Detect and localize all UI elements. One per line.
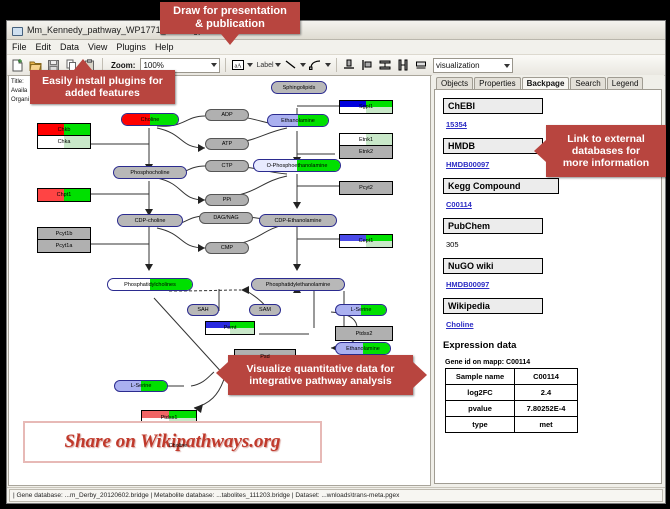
tab-search[interactable]: Search	[570, 77, 605, 89]
stack-icon[interactable]	[414, 58, 429, 73]
label-tool-dropdown[interactable]: Label	[256, 62, 280, 69]
node-phosphocholine[interactable]: Phosphocholine	[113, 166, 187, 179]
node-label: ATP	[222, 141, 232, 147]
menu-item-file[interactable]: File	[12, 42, 27, 52]
node-label: Phosphatidylethanolamine	[266, 282, 331, 288]
callout-visualize: Visualize quantitative data for integrat…	[228, 355, 413, 395]
table-row: Sample name C00114	[446, 369, 578, 385]
db-value-pubchem: 305	[446, 240, 459, 249]
zoom-value: 100%	[143, 61, 163, 70]
node-cdp-choline[interactable]: CDP-choline	[117, 214, 183, 227]
node-label: Choline	[141, 117, 160, 123]
arc-tool-icon[interactable]	[309, 58, 324, 73]
status-bar: | Gene database: ...m_Derby_20120602.bri…	[7, 487, 665, 503]
gene-chka[interactable]: Chka	[37, 135, 91, 149]
window-title-bar: Mm_Kennedy_pathway_WP1771_45176.gpml	[7, 21, 665, 40]
gene-ptdss2[interactable]: Ptdss2	[335, 326, 393, 341]
tab-legend[interactable]: Legend	[607, 77, 644, 89]
distribute-horizontal-icon[interactable]	[396, 58, 411, 73]
svg-text:aA: aA	[235, 63, 243, 69]
chevron-down-icon	[211, 63, 217, 67]
node-label: CDP-choline	[135, 218, 166, 224]
gene-cept1[interactable]: Cept1	[339, 234, 393, 248]
node-label: Psd	[260, 354, 269, 360]
db-section-nugo: NuGO wiki	[443, 258, 543, 274]
gene-sgpl1[interactable]: Sgpl1	[339, 100, 393, 114]
callout-draw-text: Draw for presentation & publication	[173, 5, 287, 30]
share-banner: Share on Wikipathways.org	[23, 421, 322, 463]
node-label: Chka	[58, 139, 71, 145]
callout-plugins-arrow	[74, 59, 92, 70]
gene-chpt1[interactable]: Chpt1	[37, 188, 91, 202]
gene-pcyt1a[interactable]: Pcyt1a	[37, 239, 91, 253]
node-label: Etnk2	[359, 149, 373, 155]
node-label: Ptdss1	[161, 415, 178, 421]
arc-tool-dropdown[interactable]	[309, 58, 331, 73]
chevron-down-icon	[325, 63, 331, 67]
expression-table: Sample name C00114 log2FC 2.4 pvalue 7.8…	[445, 368, 578, 433]
cell-key: log2FC	[446, 385, 515, 401]
cell-value: 2.4	[515, 385, 578, 401]
app-icon	[11, 25, 22, 36]
visualization-combobox[interactable]: visualization	[433, 58, 513, 73]
db-link-nugo[interactable]: HMDB00097	[446, 280, 489, 289]
menu-bar: File Edit Data View Plugins Help	[7, 40, 665, 55]
node-atp[interactable]: ATP	[205, 138, 249, 150]
node-o-phosphoethanolamine[interactable]: O-Phosphoethanolamine	[253, 159, 341, 172]
tab-backpage[interactable]: Backpage	[522, 77, 570, 89]
chevron-down-icon	[300, 63, 306, 67]
node-label: Choline	[169, 443, 188, 449]
db-link-wikipedia[interactable]: Choline	[446, 320, 474, 329]
text-tool-icon[interactable]: aA	[231, 58, 246, 73]
node-label: Pcyt1a	[56, 243, 73, 249]
node-label: Etnk1	[359, 137, 373, 143]
node-label: Pcyt1b	[56, 231, 73, 237]
distribute-vertical-icon[interactable]	[378, 58, 393, 73]
node-ethanolamine-right[interactable]: Ethanolamine	[335, 342, 391, 355]
node-label: Ethanolamine	[281, 118, 315, 124]
node-label: SAM	[259, 307, 271, 313]
node-sah[interactable]: SAH	[187, 304, 219, 316]
chevron-down-icon	[247, 63, 253, 67]
arrowhead	[145, 264, 153, 271]
new-icon[interactable]	[10, 58, 25, 73]
menu-item-view[interactable]: View	[88, 42, 107, 52]
zoom-label: Zoom:	[111, 61, 135, 70]
text-tool-dropdown[interactable]: aA	[231, 58, 253, 73]
node-label: Pemt	[224, 325, 237, 331]
db-section-chebi: ChEBI	[443, 98, 543, 114]
db-section-pubchem: PubChem	[443, 218, 543, 234]
node-label: Pcyt2	[359, 185, 373, 191]
expression-data-heading: Expression data	[443, 340, 661, 351]
screenshot-root: Mm_Kennedy_pathway_WP1771_45176.gpml Fil…	[0, 0, 670, 509]
node-label: Phosphatidylcholines	[124, 282, 176, 288]
callout-visualize-text: Visualize quantitative data for integrat…	[246, 363, 394, 387]
node-cdp-ethanolamine[interactable]: CDP-Ethanolamine	[259, 214, 337, 227]
node-label: Chkb	[58, 127, 71, 133]
node-ctp[interactable]: CTP	[205, 160, 249, 172]
node-label: SAH	[197, 307, 208, 313]
node-sam[interactable]: SAM	[249, 304, 281, 316]
node-dag-nag[interactable]: DAG/NAG	[199, 212, 253, 224]
line-tool-icon[interactable]	[284, 58, 299, 73]
node-label: Chpt1	[57, 192, 72, 198]
callout-draw-arrow	[221, 34, 239, 45]
callout-plugins-text: Easily install plugins for added feature…	[42, 75, 163, 99]
cell-value: 7.80252E-4	[515, 401, 578, 417]
tab-objects[interactable]: Objects	[436, 77, 473, 89]
node-label: Sgpl1	[359, 104, 373, 110]
node-sphingolipids[interactable]: Sphingolipids	[271, 81, 327, 94]
gene-etnk2[interactable]: Etnk2	[339, 145, 393, 159]
menu-item-edit[interactable]: Edit	[36, 42, 52, 52]
callout-draw: Draw for presentation & publication	[160, 2, 300, 34]
callout-links-arrow	[534, 140, 546, 162]
node-l-serine-right[interactable]: L-Serine	[335, 304, 387, 316]
cell-key: pvalue	[446, 401, 515, 417]
gene-id-text: Gene id on mapp: C00114	[445, 359, 661, 366]
align-bottom-icon[interactable]	[342, 58, 357, 73]
pathway-canvas[interactable]: Title: Availa Organi	[8, 75, 431, 486]
callout-plugins: Easily install plugins for added feature…	[30, 70, 175, 104]
menu-item-help[interactable]: Help	[155, 42, 174, 52]
menu-item-data[interactable]: Data	[60, 42, 79, 52]
node-label: O-Phosphoethanolamine	[267, 163, 328, 169]
callout-visualize-arrow	[216, 362, 228, 384]
align-left-icon[interactable]	[360, 58, 375, 73]
gene-pcyt2[interactable]: Pcyt2	[339, 181, 393, 195]
cell-value: met	[515, 417, 578, 433]
side-panel-tabs: Objects Properties Backpage Search Legen…	[432, 75, 664, 89]
db-section-kegg: Kegg Compound	[443, 178, 559, 194]
node-label: L-Serine	[351, 307, 372, 313]
tab-properties[interactable]: Properties	[474, 77, 520, 89]
node-label: CDP-Ethanolamine	[274, 218, 321, 224]
node-label: ADP	[221, 112, 232, 118]
callout-visualize-arrow-right	[413, 362, 427, 388]
db-link-chebi[interactable]: 15354	[446, 120, 467, 129]
status-bar-text: | Gene database: ...m_Derby_20120602.bri…	[13, 492, 399, 499]
callout-links-text: Link to external databases for more info…	[563, 133, 649, 169]
node-label: Cept1	[359, 238, 374, 244]
node-label: L-Serine	[131, 383, 152, 389]
node-label: PPi	[223, 197, 232, 203]
node-l-serine-left[interactable]: L-Serine	[114, 380, 168, 392]
node-ppi[interactable]: PPi	[205, 194, 249, 206]
db-link-hmdb[interactable]: HMDB00097	[446, 160, 489, 169]
cell-key: type	[446, 417, 515, 433]
chevron-down-icon	[504, 64, 510, 68]
node-label: DAG/NAG	[213, 215, 238, 221]
cell-value: C00114	[515, 369, 578, 385]
node-label: CMP	[221, 245, 233, 251]
db-link-kegg[interactable]: C00114	[446, 200, 472, 209]
db-section-hmdb: HMDB	[443, 138, 543, 154]
toolbar-separator	[225, 58, 226, 72]
callout-links: Link to external databases for more info…	[546, 125, 666, 177]
node-label: Ethanolamine	[346, 346, 380, 352]
node-adp[interactable]: ADP	[205, 109, 249, 121]
node-label: Sphingolipids	[283, 85, 316, 91]
label-tool-label: Label	[256, 62, 273, 69]
node-ethanolamine[interactable]: Ethanolamine	[267, 114, 329, 127]
node-choline[interactable]: Choline	[121, 113, 179, 126]
toolbar-separator	[336, 58, 337, 72]
table-row: type met	[446, 417, 578, 433]
share-banner-text: Share on Wikipathways.org	[65, 431, 281, 453]
node-cmp[interactable]: CMP	[205, 242, 249, 254]
node-label: Ptdss2	[356, 331, 373, 337]
table-row: log2FC 2.4	[446, 385, 578, 401]
node-phosphatidylcholines[interactable]: Phosphatidylcholines	[107, 278, 193, 291]
cell-key: Sample name	[446, 369, 515, 385]
node-phosphatidylethanolamine[interactable]: Phosphatidylethanolamine	[251, 278, 345, 291]
node-label: Phosphocholine	[130, 170, 169, 176]
chevron-down-icon	[275, 63, 281, 67]
node-label: CTP	[222, 163, 233, 169]
line-tool-dropdown[interactable]	[284, 58, 306, 73]
gene-pemt[interactable]: Pemt	[205, 321, 255, 335]
menu-item-plugins[interactable]: Plugins	[116, 42, 146, 52]
table-row: pvalue 7.80252E-4	[446, 401, 578, 417]
db-section-wikipedia: Wikipedia	[443, 298, 543, 314]
visualization-value: visualization	[436, 61, 480, 70]
